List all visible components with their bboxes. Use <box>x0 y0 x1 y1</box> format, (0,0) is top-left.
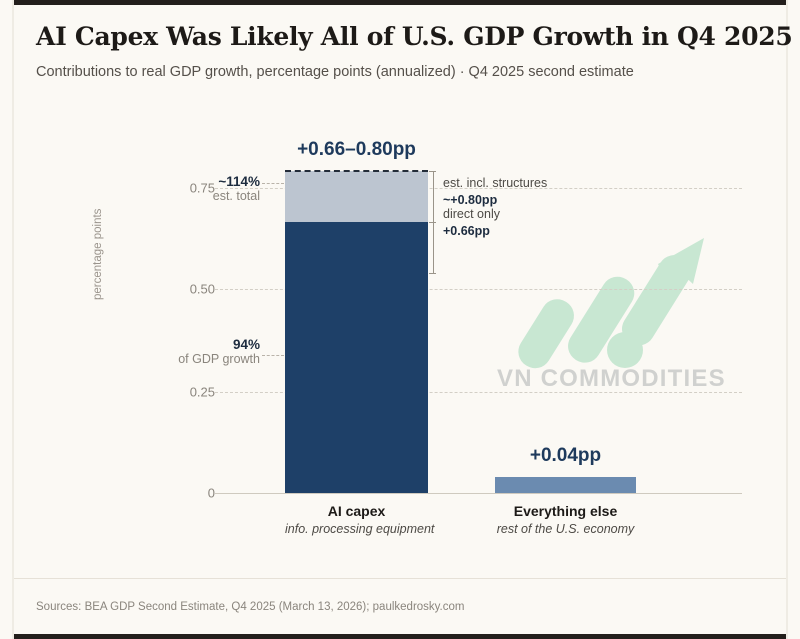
leader-line-est-total <box>262 183 284 184</box>
chart-card: AI Capex Was Likely All of U.S. GDP Grow… <box>0 0 800 639</box>
annotation-est-total-label: est. total <box>60 189 260 203</box>
bracket-upper-segment <box>433 171 434 222</box>
category-sublabel-everything-else: rest of the U.S. economy <box>480 522 651 536</box>
bar-everything-else-value-label: +0.04pp <box>495 445 636 467</box>
category-name-everything-else: Everything else <box>480 503 651 519</box>
category-name-ai-capex: AI capex <box>285 503 428 519</box>
y-tick-000: 0 <box>163 486 215 501</box>
category-label-everything-else: Everything else rest of the U.S. economy <box>480 503 651 536</box>
annotation-incl-structures-label: est. incl. structures <box>443 175 547 192</box>
category-sublabel-ai-capex: info. processing equipment <box>285 522 428 536</box>
leader-line-direct-share <box>262 355 284 356</box>
annotation-direct-share: 94% of GDP growth <box>60 337 260 366</box>
y-tick-025: 0.25 <box>163 385 215 400</box>
bracket-tick-bottom <box>429 273 436 274</box>
annotation-direct-only-label: direct only <box>443 206 500 223</box>
bar-ai-capex-upper-segment[interactable] <box>285 171 428 222</box>
bar-ai-capex-direct-segment[interactable] <box>285 222 428 493</box>
annotation-direct-only-value: +0.66pp <box>443 223 500 240</box>
bracket-tick-mid <box>429 222 436 223</box>
bar-ai-capex-value-label: +0.66–0.80pp <box>285 139 428 161</box>
plot-area: percentage points 0.75 0.50 0.25 0 +0.66… <box>0 0 800 639</box>
x-axis-baseline <box>215 493 742 494</box>
bracket-lower-segment <box>433 222 434 274</box>
footer-sources: Sources: BEA GDP Second Estimate, Q4 202… <box>36 601 464 613</box>
bar-everything-else[interactable] <box>495 477 636 493</box>
bar-ai-capex-estimate-cap <box>285 170 428 172</box>
footer-divider <box>14 578 786 579</box>
bracket-tick-top <box>429 171 436 172</box>
annotation-direct-share-value: 94% <box>60 337 260 352</box>
category-label-ai-capex: AI capex info. processing equipment <box>285 503 428 536</box>
y-tick-050: 0.50 <box>163 282 215 297</box>
annotation-est-total-value: ~114% <box>60 174 260 189</box>
annotation-direct-share-label: of GDP growth <box>60 352 260 366</box>
annotation-incl-structures: est. incl. structures ~+0.80pp <box>443 175 547 209</box>
annotation-est-total: ~114% est. total <box>60 174 260 203</box>
annotation-direct-only: direct only +0.66pp <box>443 206 500 240</box>
y-axis-label: percentage points <box>92 209 104 300</box>
